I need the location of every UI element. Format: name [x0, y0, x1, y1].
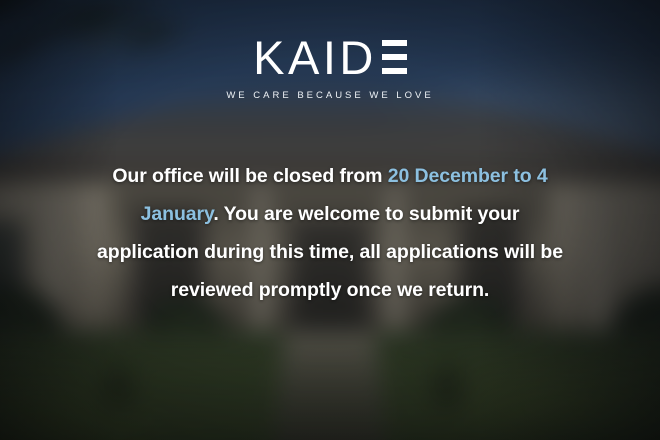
message-closure-start-date: 20 December to [388, 165, 532, 187]
closure-message: Our office will be closed from 20 Decemb… [95, 157, 565, 309]
announcement-banner: KAID WE CARE BECAUSE WE LOVE Our office … [0, 0, 660, 440]
brand-letter-e-icon [382, 40, 407, 74]
letter-e-bar-middle [382, 54, 407, 60]
brand-wordmark-text: KAID [253, 34, 377, 81]
banner-content: KAID WE CARE BECAUSE WE LOVE Our office … [0, 0, 660, 440]
brand-wordmark: KAID [253, 34, 407, 81]
letter-e-bar-bottom [382, 68, 407, 74]
message-line2-suffix: . You are welcome to submit your [213, 203, 519, 225]
message-line3: application during this time, all applic… [97, 241, 499, 263]
letter-e-bar-top [382, 40, 407, 46]
brand-tagline: WE CARE BECAUSE WE LOVE [226, 90, 433, 101]
message-line1-prefix: Our office will be closed from [112, 165, 387, 187]
brand-logo: KAID WE CARE BECAUSE WE LOVE [226, 34, 433, 101]
